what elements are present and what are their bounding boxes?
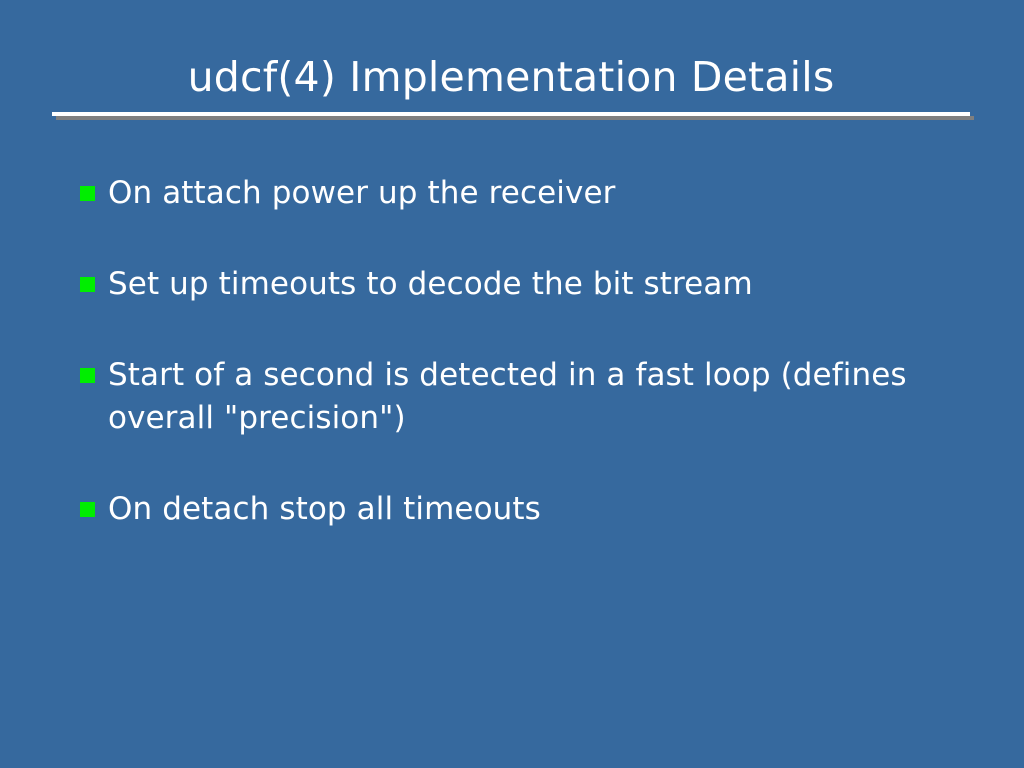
title-divider [52, 112, 970, 121]
bullet-list: On attach power up the receiver Set up t… [80, 172, 960, 531]
bullet-item-label: Set up timeouts to decode the bit stream [108, 263, 960, 306]
bullet-item-label: On detach stop all timeouts [108, 488, 960, 531]
bullet-item: On attach power up the receiver [80, 172, 960, 215]
slide-title: udcf(4) Implementation Details [52, 52, 970, 102]
bullet-item: Start of a second is detected in a fast … [80, 354, 960, 440]
green-square-bullet-icon [80, 502, 95, 517]
bullet-item-label: On attach power up the receiver [108, 172, 960, 215]
bullet-item: On detach stop all timeouts [80, 488, 960, 531]
bullet-item-label: Start of a second is detected in a fast … [108, 354, 960, 440]
slide-title-block: udcf(4) Implementation Details [0, 0, 1024, 130]
green-square-bullet-icon [80, 368, 95, 383]
green-square-bullet-icon [80, 277, 95, 292]
title-divider-shadow [56, 116, 974, 120]
green-square-bullet-icon [80, 186, 95, 201]
presentation-slide: udcf(4) Implementation Details On attach… [0, 0, 1024, 768]
bullet-item: Set up timeouts to decode the bit stream [80, 263, 960, 306]
